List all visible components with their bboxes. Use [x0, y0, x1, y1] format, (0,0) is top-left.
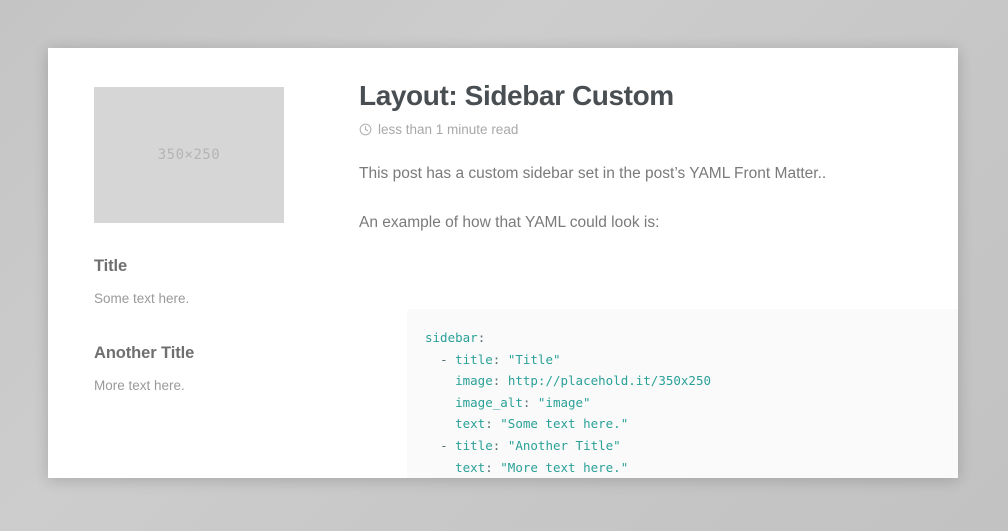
post-sidebar: 350×250 Title Some text here. Another Ti…	[94, 87, 324, 397]
page-title: Layout: Sidebar Custom	[359, 80, 958, 112]
page-card: 350×250 Title Some text here. Another Ti…	[48, 48, 958, 478]
sidebar-item-0: Title Some text here.	[94, 257, 324, 309]
sidebar-item-text: Some text here.	[94, 289, 324, 309]
image-placeholder-label: 350×250	[158, 147, 221, 163]
sidebar-item-title: Title	[94, 257, 324, 276]
post-main: Layout: Sidebar Custom less than 1 minut…	[359, 80, 958, 478]
post-paragraph: An example of how that YAML could look i…	[359, 211, 958, 234]
code-block: sidebar: - title: "Title" image: http://…	[407, 309, 958, 478]
code-block-content: sidebar: - title: "Title" image: http://…	[407, 327, 958, 478]
clock-icon	[359, 123, 372, 136]
post-meta: less than 1 minute read	[359, 123, 958, 137]
sidebar-item-text: More text here.	[94, 376, 324, 396]
read-time-label: less than 1 minute read	[378, 123, 518, 137]
page-inner: 350×250 Title Some text here. Another Ti…	[48, 48, 958, 478]
post-paragraph: This post has a custom sidebar set in th…	[359, 162, 958, 185]
sidebar-item-1: Another Title More text here.	[94, 344, 324, 396]
image-placeholder: 350×250	[94, 87, 284, 223]
sidebar-item-title: Another Title	[94, 344, 324, 363]
